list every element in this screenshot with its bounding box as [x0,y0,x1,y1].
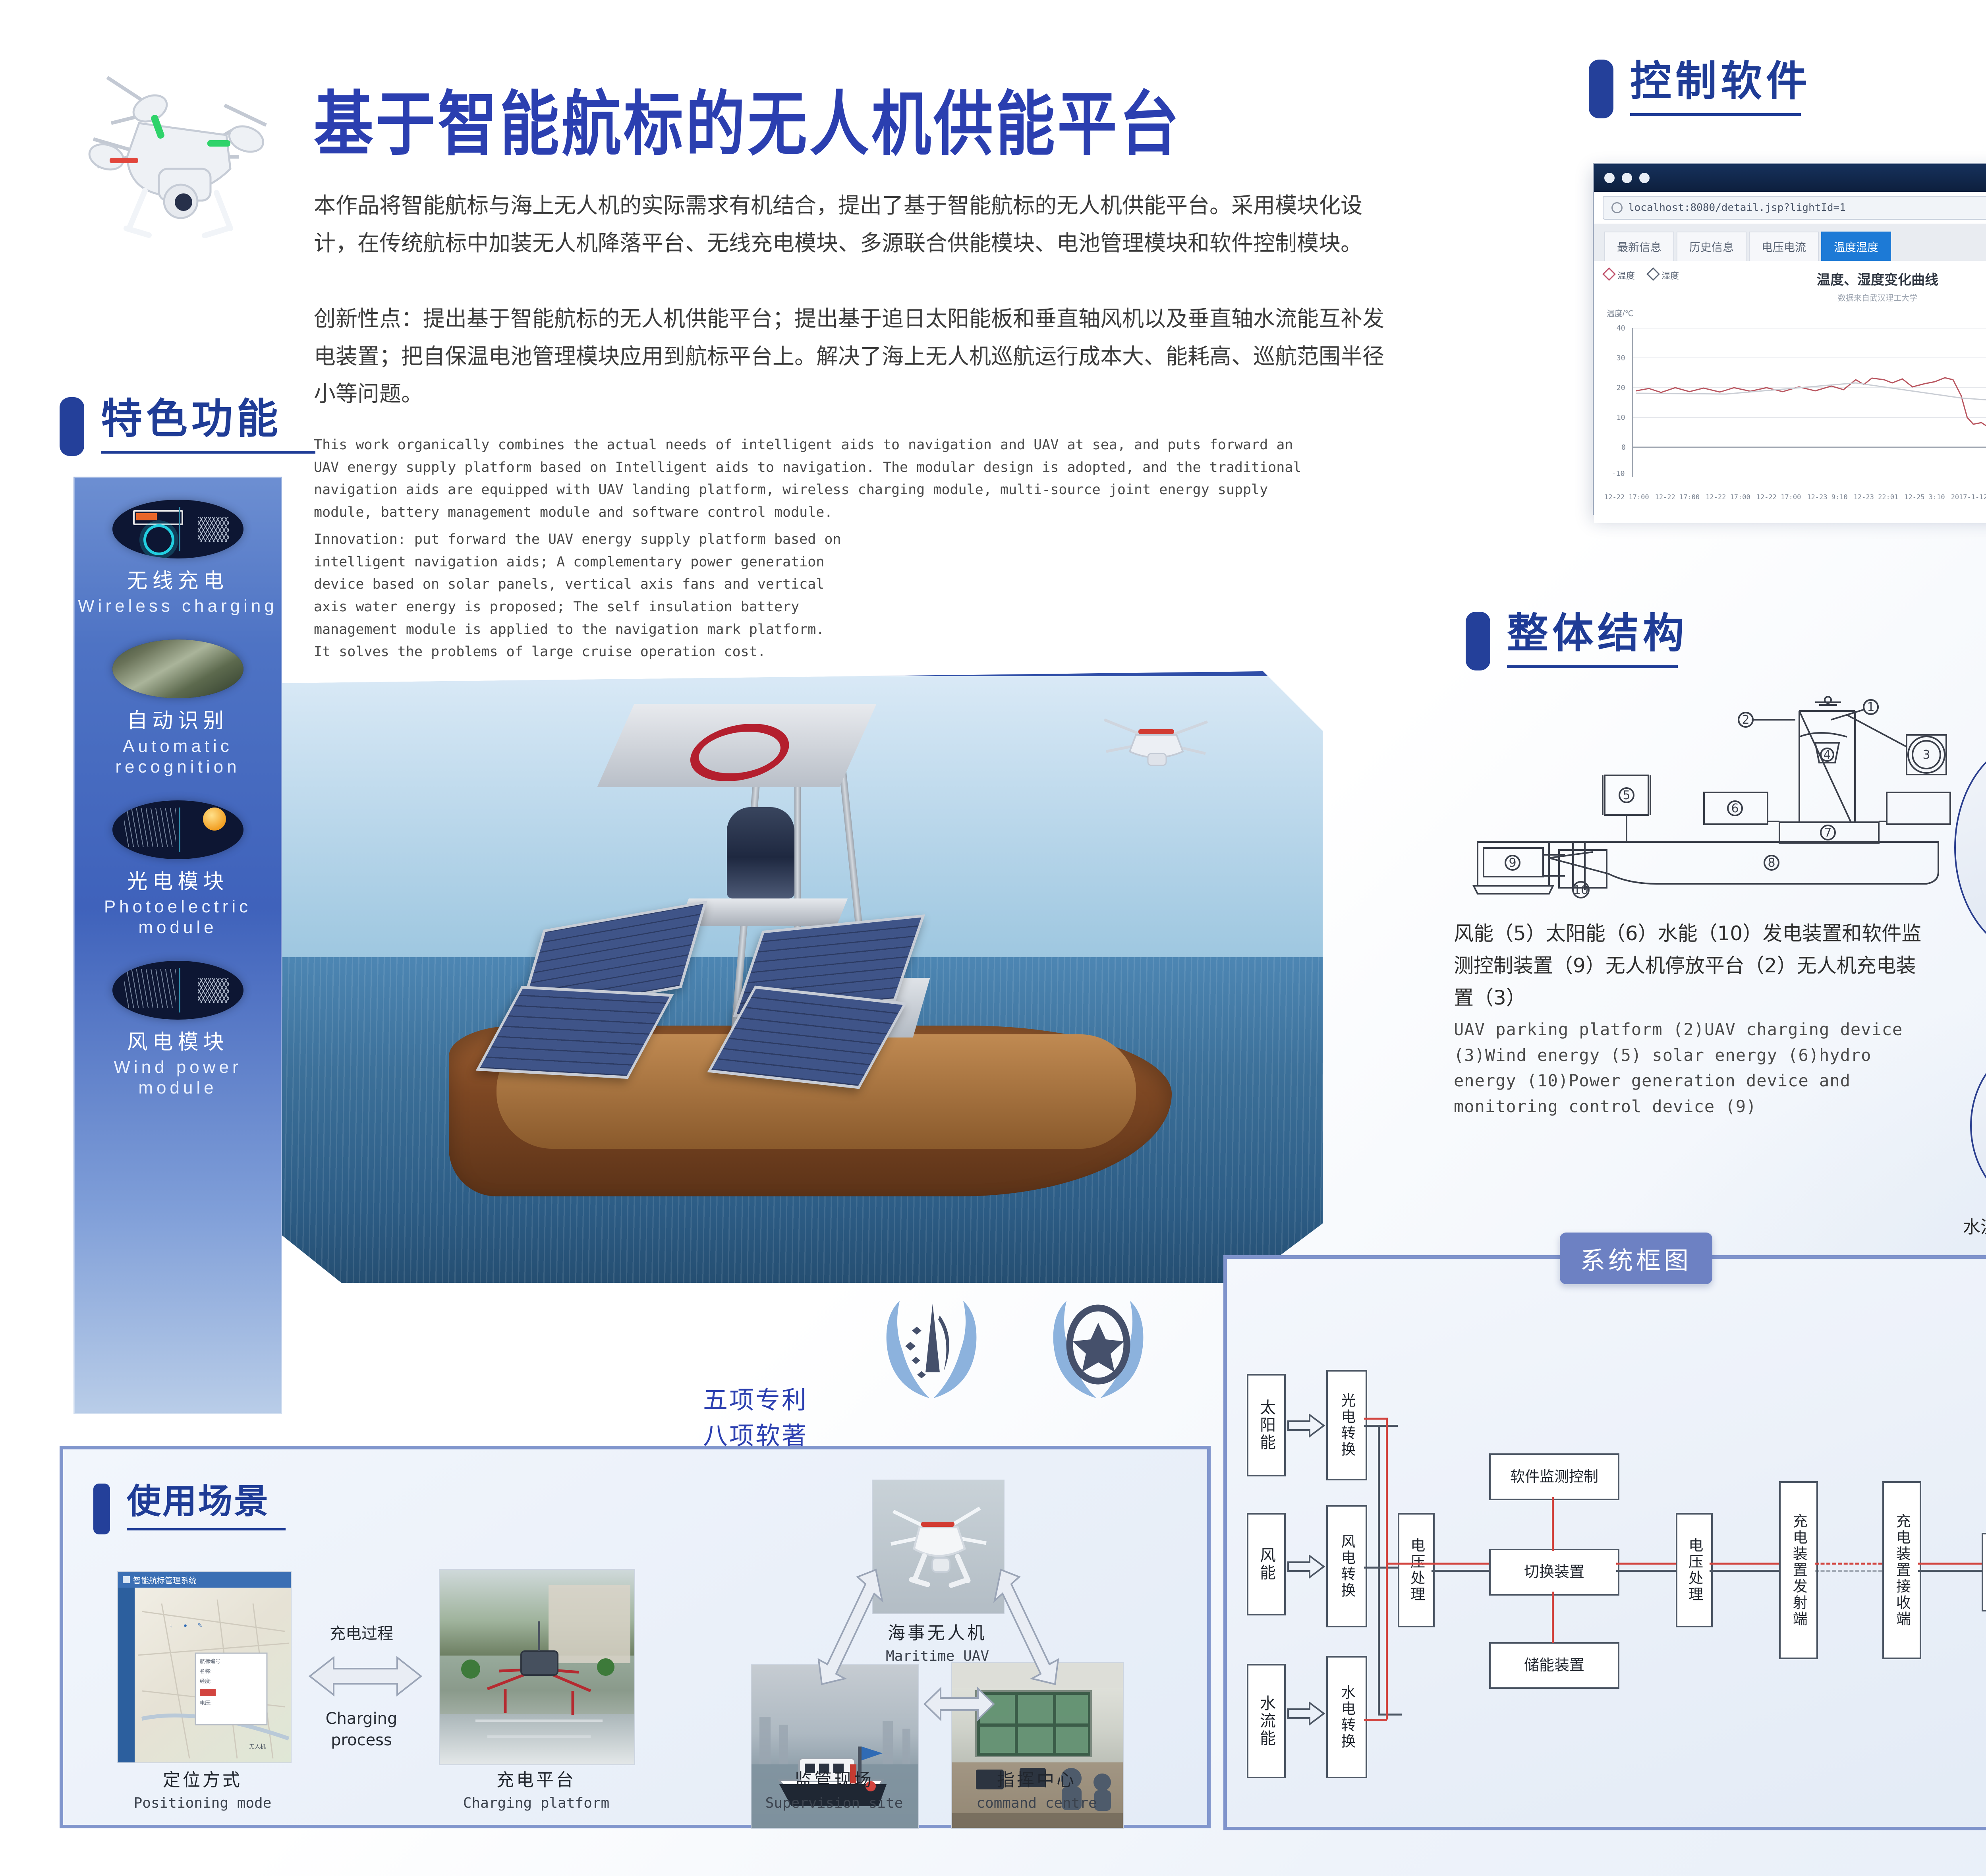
block-photoelectric-conversion: 光电转换 [1326,1370,1367,1480]
block-hydro-conversion: 水电转换 [1326,1656,1367,1778]
tab-voltage-current[interactable]: 电压电流 [1749,232,1819,261]
structure-line-drawing: 1 2 3 4 5 6 7 8 9 10 [1450,636,1974,906]
svg-text:✎: ✎ [197,1622,203,1629]
usage-caption-supervision-site: 监管现场 Supervision site [731,1768,937,1814]
svg-text:电压:: 电压: [200,1700,212,1706]
feature-label-zh: 无线充电 [127,569,228,593]
intro-paragraph-en: This work organically combines the actua… [314,434,1307,524]
software-window-temperature: localhost:8080/detail.jsp?lightId=1 最新信息… [1593,163,1986,515]
section-underline [1630,113,1801,116]
tab-history-info[interactable]: 历史信息 [1677,232,1746,261]
svg-text:-10: -10 [1611,469,1625,478]
block-charging-transmitter: 充电装置发射端 [1779,1481,1818,1659]
wind-tower-icon [112,961,243,1020]
callout-hydro-turbine-blade: 1-直驱水轮发电机; 2-控制装置; 3-齿轮; 4-支撑装置; 5-主轴; 6… [1970,1041,1986,1208]
usage-caption-positioning: 定位方式 Positioning mode [91,1768,314,1814]
section-accent-bar [93,1484,110,1534]
svg-text:无人机: 无人机 [249,1744,266,1750]
svg-text:10: 10 [1573,883,1588,897]
block-battery: 电池 [1982,1533,1986,1611]
chart-title: 温度、湿度变化曲线 [1679,269,1986,288]
feature-item-photoelectric[interactable]: 光电模块 Photoelectric module [73,800,282,938]
block-wind-energy: 风能 [1247,1513,1286,1615]
legend-temperature: 温度 [1617,271,1635,281]
feature-label-en: Wind power module [73,1057,282,1098]
tab-temperature-humidity[interactable]: 温度湿度 [1821,232,1891,261]
usage-image-charging-platform[interactable] [439,1569,635,1765]
usage-caption-command-centre: 指挥中心 command centre [933,1768,1140,1814]
page-title: 基于智能航标的无人机供能平台 [314,68,1181,169]
software-heading: 控制软件 [1630,60,1811,103]
usage-image-positioning[interactable]: 智能航标管理系统 航标编号名称:经度: 状态:电压: ↓●✎ 无人机 [117,1571,292,1763]
feature-label-en: Automatic recognition [73,736,282,777]
svg-text:30: 30 [1617,354,1625,362]
features-panel: 无线充电 Wireless charging 自动识别 Automatic re… [73,477,282,1414]
tab-latest-info[interactable]: 最新信息 [1604,232,1674,261]
map-recognition-icon [112,640,243,698]
system-diagram-box: 系统框图 太阳能 风能 水流能 光电转换 风电转换 水电转换 电压处理 软件监测… [1223,1255,1986,1830]
svg-text:名称:: 名称: [200,1668,212,1675]
feature-item-wireless-charging[interactable]: 无线充电 Wireless charging [73,500,282,616]
block-voltage-processing-1: 电压处理 [1398,1513,1435,1627]
feature-label-zh: 光电模块 [127,869,228,894]
svg-text:9: 9 [1509,856,1516,870]
svg-text:4: 4 [1823,748,1831,762]
charging-process-label-en: Chargingprocess [302,1708,421,1751]
svg-text:5: 5 [1623,788,1630,802]
innovation-paragraph-en: Innovation: put forward the UAV energy s… [314,528,842,663]
block-solar-energy: 太阳能 [1247,1374,1286,1476]
usage-caption-charging-platform: 充电平台 Charging platform [421,1768,651,1814]
feature-item-wind-power[interactable]: 风电模块 Wind power module [73,961,282,1098]
svg-text:经度:: 经度: [200,1678,212,1685]
section-underline [127,1528,286,1530]
arrow-icon [1287,1553,1326,1580]
award-badge-star-icon [1033,1279,1164,1410]
svg-text:1: 1 [1867,700,1874,714]
software-section-header: 控制软件 [1589,60,1811,118]
arrow-icon [1287,1700,1326,1727]
chart-legend: 温度 湿度 [1604,269,1679,282]
url-text: localhost:8080/detail.jsp?lightId=1 [1628,202,1846,214]
app-icon [123,1576,130,1583]
structure-caption-zh: 风能（5）太阳能（6）水能（10）发电装置和软件监测控制装置（9）无人机停放平台… [1454,918,1922,1014]
browser-titlebar [1594,164,1986,192]
window-maximize-icon[interactable] [1639,173,1650,183]
structure-caption-en: UAV parking platform (2)UAV charging dev… [1454,1017,1926,1120]
svg-text:6: 6 [1731,802,1739,815]
usage-section-header: 使用场景 [93,1484,286,1534]
y-axis-label: 温度/℃ [1607,307,1986,319]
charging-process-label-zh: 充电过程 [302,1623,421,1645]
svg-text:0: 0 [1621,443,1626,452]
bidirectional-arrow-supervision-command [922,1682,997,1726]
bidirectional-arrow-uav-command [989,1565,1061,1692]
wireless-charging-icon [112,500,243,558]
feature-label-en: Wireless charging [78,596,278,616]
legend-humidity: 湿度 [1661,271,1679,281]
hero-buoy-render [282,671,1323,1293]
award-badge-rocket-icon [866,1279,997,1410]
svg-text:2: 2 [1742,713,1749,727]
x-axis-ticks: 12-22 17:0012-22 17:00 12-22 17:0012-22 … [1604,493,1986,501]
patent-count-label: 五项专利 八项软著 [703,1382,808,1454]
tab-bar: 最新信息 历史信息 电压电流 温度湿度 [1594,224,1986,261]
features-section-header: 特色功能 [60,397,315,456]
svg-text:●: ● [184,1622,187,1629]
map-window-title: 智能航标管理系统 [133,1574,197,1586]
features-heading: 特色功能 [101,397,315,441]
block-software-monitoring: 软件监测控制 [1489,1453,1619,1500]
window-minimize-icon[interactable] [1622,173,1632,183]
svg-text:8: 8 [1768,856,1775,870]
chart-subtitle: 数据来自武汉理工大学 [1679,292,1986,303]
info-icon [1611,202,1623,213]
block-voltage-processing-2: 电压处理 [1676,1513,1713,1627]
svg-text:20: 20 [1617,384,1625,392]
block-wind-conversion: 风电转换 [1326,1505,1367,1627]
window-close-icon[interactable] [1604,173,1615,183]
svg-text:航标编号: 航标编号 [200,1658,220,1665]
svg-text:↓: ↓ [170,1622,173,1629]
svg-text:10: 10 [1617,413,1625,422]
drone-logo-icon [60,38,282,244]
callout-vertical-axis-wind-turbine: 垂直轴风力发电机 [1954,739,1986,953]
section-underline [101,451,315,454]
block-charging-receiver: 充电装置接收端 [1882,1481,1921,1659]
flying-drone-icon [1088,704,1223,787]
svg-text:3: 3 [1922,748,1930,762]
address-bar[interactable]: localhost:8080/detail.jsp?lightId=1 [1603,196,1986,220]
innovation-paragraph-zh: 创新性点：提出基于智能航标的无人机供能平台；提出基于追日太阳能板和垂直轴风机以及… [314,300,1394,413]
temperature-humidity-chart: 403020 100-10 [1604,320,1986,491]
block-energy-storage: 储能装置 [1489,1642,1619,1689]
section-accent-bar [1589,60,1613,118]
solar-panel-icon [112,800,243,859]
feature-label-zh: 风电模块 [127,1030,228,1055]
usage-image-maritime-uav[interactable] [872,1480,1005,1614]
block-switching-device: 切换装置 [1489,1549,1619,1596]
bidirectional-arrow-uav-supervision [816,1565,888,1692]
feature-label-zh: 自动识别 [127,709,228,733]
block-hydro-energy: 水流能 [1247,1664,1286,1778]
svg-text:40: 40 [1617,324,1625,332]
system-diagram-heading: 系统框图 [1560,1233,1712,1284]
arrow-icon [1287,1412,1326,1439]
feature-label-en: Photoelectric module [73,896,282,938]
svg-text:7: 7 [1824,826,1831,840]
section-accent-bar [60,397,84,456]
intro-paragraph-zh: 本作品将智能航标与海上无人机的实际需求有机结合，提出了基于智能航标的无人机供能平… [314,187,1394,262]
feature-item-automatic-recognition[interactable]: 自动识别 Automatic recognition [73,640,282,777]
bidirectional-arrow-charging [306,1650,425,1702]
usage-heading: 使用场景 [127,1484,286,1519]
